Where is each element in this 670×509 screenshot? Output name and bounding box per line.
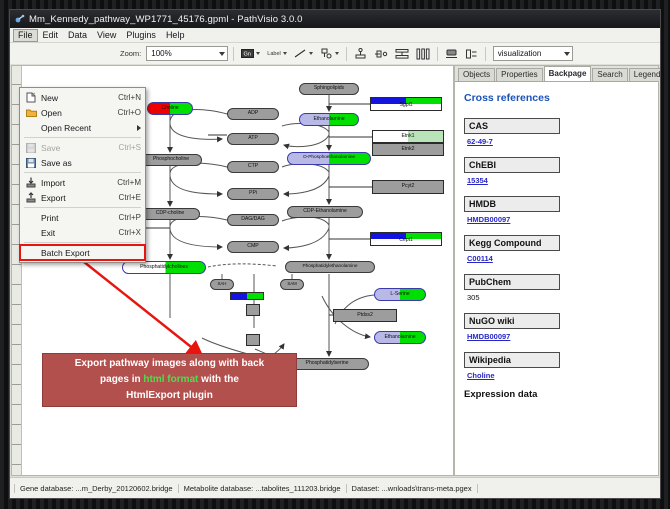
backpage-content: Cross references CAS 62-49-7 ChEBI 15354…	[455, 82, 658, 475]
datanode-tool-button[interactable]: Gn	[239, 47, 262, 60]
menu-item-new[interactable]: New Ctrl+N	[20, 90, 145, 105]
toolbar[interactable]: Zoom: 100% Gn Label	[10, 43, 660, 65]
gene-cept1[interactable]: Cept1	[370, 232, 442, 246]
node-dag-dag[interactable]: DAG/DAG	[227, 214, 279, 226]
tab-backpage[interactable]: Backpage	[544, 66, 592, 81]
zoom-value: 100%	[151, 49, 171, 58]
gene-etnk1[interactable]: Etnk1	[372, 130, 444, 143]
align-top-button[interactable]	[352, 47, 369, 61]
toolbar-separator	[233, 47, 234, 61]
toolbar-separator	[485, 47, 486, 61]
menu-file[interactable]: File	[13, 29, 38, 42]
export-icon	[24, 192, 38, 203]
menu-item-open[interactable]: Open Ctrl+O	[20, 105, 145, 120]
label-tool-button[interactable]: Label	[265, 50, 288, 58]
callout-line2-before: pages in	[100, 374, 143, 385]
node-choline-top[interactable]: Choline	[147, 102, 193, 115]
callout-line2-highlight: html format	[143, 374, 198, 385]
window-title: Mm_Kennedy_pathway_WP1771_45176.gpml - P…	[29, 14, 303, 25]
screenshot-frame: Mm_Kennedy_pathway_WP1771_45176.gpml - P…	[0, 0, 670, 509]
menu-item-print-accel: Ctrl+P	[113, 213, 141, 222]
import-icon	[24, 177, 38, 188]
tab-objects[interactable]: Objects	[458, 68, 495, 81]
menu-item-print[interactable]: Print Ctrl+P	[20, 210, 145, 225]
toolbar-separator	[437, 47, 438, 61]
menu-item-new-accel: Ctrl+N	[112, 93, 141, 102]
node-phosphatidylserine[interactable]: Phosphatidylserine	[285, 358, 369, 370]
menu-item-batch-export[interactable]: Batch Export	[20, 245, 145, 260]
menu-item-batch-export-label: Batch Export	[38, 248, 141, 258]
status-metabolite-database: Metabolite database: ...tabolites_111203…	[179, 484, 347, 493]
distribute-horizontal-icon	[416, 48, 430, 60]
chevron-down-icon[interactable]	[335, 52, 339, 55]
menu-item-save-accel: Ctrl+S	[113, 143, 141, 152]
submenu-arrow-icon	[137, 125, 141, 131]
visualization-value: visualization	[498, 49, 542, 58]
xref-header-cas: CAS	[464, 118, 560, 134]
node-ethanolamine-2[interactable]: Ethanolamine	[374, 331, 426, 344]
node-phosphatidylethanolamine[interactable]: Phosphatidylethanolamine	[285, 261, 375, 273]
align-left-button[interactable]	[372, 47, 390, 61]
menu-item-export-label: Export	[38, 193, 113, 203]
menu-data[interactable]: Data	[63, 29, 92, 42]
new-document-icon	[24, 92, 38, 103]
xref-header-wikipedia: Wikipedia	[464, 352, 560, 368]
tab-search[interactable]: Search	[592, 68, 627, 81]
menu-help[interactable]: Help	[161, 29, 190, 42]
status-gene-database: Gene database: ...m_Derby_20120602.bridg…	[14, 484, 179, 493]
receptor-shape-icon	[320, 48, 333, 59]
gene-sgpl1[interactable]: Sgpl1	[370, 97, 442, 111]
gene-etnk2[interactable]: Etnk2	[372, 143, 444, 156]
status-dataset: Dataset: ...wnloads\trans-meta.pgex	[347, 484, 478, 493]
menu-item-exit[interactable]: Exit Ctrl+X	[20, 225, 145, 240]
xref-header-chebi: ChEBI	[464, 157, 560, 173]
menu-separator	[24, 242, 141, 243]
xref-link-nugo-wiki[interactable]: HMDB00097	[467, 332, 650, 341]
chevron-down-icon[interactable]	[256, 52, 260, 55]
menubar[interactable]: File Edit Data View Plugins Help	[10, 28, 660, 43]
side-panel: Objects Properties Backpage Search Legen…	[454, 65, 659, 476]
pathvisio-app-icon	[14, 14, 25, 25]
menu-separator	[24, 207, 141, 208]
annotation-callout: Export pathway images along with back pa…	[42, 353, 297, 407]
node-sphingolipids[interactable]: Sphingolipids	[299, 83, 359, 95]
stack-button[interactable]	[463, 47, 480, 61]
menu-item-export[interactable]: Export Ctrl+E	[20, 190, 145, 205]
menu-item-save-as[interactable]: Save as	[20, 155, 145, 170]
gene-ptdss2[interactable]: Ptdss2	[333, 309, 397, 322]
callout-line1: Export pathway images along with back	[75, 358, 265, 369]
menu-item-print-label: Print	[38, 213, 113, 223]
visualization-combobox[interactable]: visualization	[493, 46, 573, 61]
menu-item-export-accel: Ctrl+E	[113, 193, 141, 202]
node-ppi[interactable]: PPi	[227, 188, 279, 200]
menu-item-open-accel: Ctrl+O	[112, 108, 141, 117]
menu-plugins[interactable]: Plugins	[121, 29, 161, 42]
xref-link-cas[interactable]: 62-49-7	[467, 137, 650, 146]
pathvisio-window: Mm_Kennedy_pathway_WP1771_45176.gpml - P…	[9, 9, 661, 499]
gene-product-icon: Gn	[241, 48, 254, 59]
callout-line3: HtmlExport plugin	[126, 390, 213, 401]
node-cdp-choline[interactable]: CDP-choline	[140, 208, 200, 220]
xref-header-pubchem: PubChem	[464, 274, 560, 290]
node-cmp[interactable]: CMP	[227, 241, 279, 253]
menu-item-import-accel: Ctrl+M	[111, 178, 141, 187]
status-bar: Gene database: ...m_Derby_20120602.bridg…	[10, 477, 660, 498]
xref-header-hmdb: HMDB	[464, 196, 560, 212]
menu-item-save-as-label: Save as	[38, 158, 135, 168]
xref-link-wikipedia[interactable]: Choline	[467, 371, 650, 380]
save-disk-icon	[24, 143, 38, 153]
distribute-vertical-icon	[395, 48, 409, 60]
menu-edit[interactable]: Edit	[38, 29, 64, 42]
node-l-serine[interactable]: L-Serine	[374, 288, 426, 301]
xref-link-hmdb[interactable]: HMDB00097	[467, 215, 650, 224]
node-atp[interactable]: ATP	[227, 133, 279, 145]
xref-link-kegg-compound[interactable]: C00114	[467, 254, 650, 263]
callout-line2-after: with the	[198, 374, 239, 385]
align-top-icon	[354, 48, 367, 60]
zoom-combobox[interactable]: 100%	[146, 46, 228, 61]
node-ethanolamine-1[interactable]: Ethanolamine	[299, 113, 359, 126]
chevron-down-icon[interactable]	[283, 52, 287, 55]
chevron-down-icon	[219, 52, 225, 56]
tab-legend[interactable]: Legend	[629, 68, 661, 81]
window-titlebar: Mm_Kennedy_pathway_WP1771_45176.gpml - P…	[10, 10, 660, 28]
node-phosphocholine[interactable]: Phosphocholine	[140, 154, 202, 166]
tab-properties[interactable]: Properties	[496, 68, 542, 81]
chevron-down-icon[interactable]	[309, 52, 313, 55]
node-o-phosphoethanolamine[interactable]: O-Phosphoethanolamine	[287, 152, 371, 165]
xref-header-kegg-compound: Kegg Compound	[464, 235, 560, 251]
svg-text:Gn: Gn	[244, 52, 251, 58]
menu-item-new-label: New	[38, 93, 112, 103]
save-as-icon	[24, 158, 38, 168]
chevron-down-icon	[564, 52, 570, 56]
gene-pcyt2[interactable]: Pcyt2	[372, 180, 444, 194]
expression-data-heading: Expression data	[464, 389, 650, 400]
menu-view[interactable]: View	[92, 29, 121, 42]
file-menu-dropdown[interactable]: New Ctrl+N Open Ctrl+O Open Recent	[19, 87, 146, 263]
group-button[interactable]	[443, 47, 460, 61]
menu-separator	[24, 137, 141, 138]
node-adp[interactable]: ADP	[227, 108, 279, 120]
distribute-vertical-button[interactable]	[393, 47, 411, 61]
group-icon	[445, 48, 458, 60]
menu-item-open-recent[interactable]: Open Recent	[20, 120, 145, 135]
menu-item-open-recent-label: Open Recent	[38, 123, 137, 133]
menu-item-import[interactable]: Import Ctrl+M	[20, 175, 145, 190]
menu-item-import-label: Import	[38, 178, 111, 188]
distribute-horizontal-button[interactable]	[414, 47, 432, 61]
zoom-label: Zoom:	[120, 49, 141, 58]
node-cdp-ethanolamine[interactable]: CDP-Ethanolamine	[287, 206, 363, 218]
menu-separator	[24, 172, 141, 173]
xref-header-nugo-wiki: NuGO wiki	[464, 313, 560, 329]
toolbar-separator	[346, 47, 347, 61]
xref-value-pubchem: 305	[467, 293, 650, 302]
side-panel-tabs[interactable]: Objects Properties Backpage Search Legen…	[455, 66, 658, 82]
menu-item-exit-accel: Ctrl+X	[113, 228, 141, 237]
menu-item-exit-label: Exit	[38, 228, 113, 238]
folder-open-icon	[24, 108, 38, 118]
xref-link-chebi[interactable]: 15354	[467, 176, 650, 185]
menu-item-open-label: Open	[38, 108, 112, 118]
stack-icon	[465, 48, 478, 60]
cross-references-title: Cross references	[464, 92, 650, 104]
menu-item-save[interactable]: Save Ctrl+S	[20, 140, 145, 155]
menu-item-save-label: Save	[38, 143, 113, 153]
line-icon	[294, 48, 307, 59]
align-left-icon	[374, 48, 388, 60]
node-ctp[interactable]: CTP	[227, 161, 279, 173]
interaction-tool-button[interactable]	[318, 47, 341, 60]
line-tool-button[interactable]	[292, 47, 315, 60]
label-icon: Label	[267, 51, 280, 57]
